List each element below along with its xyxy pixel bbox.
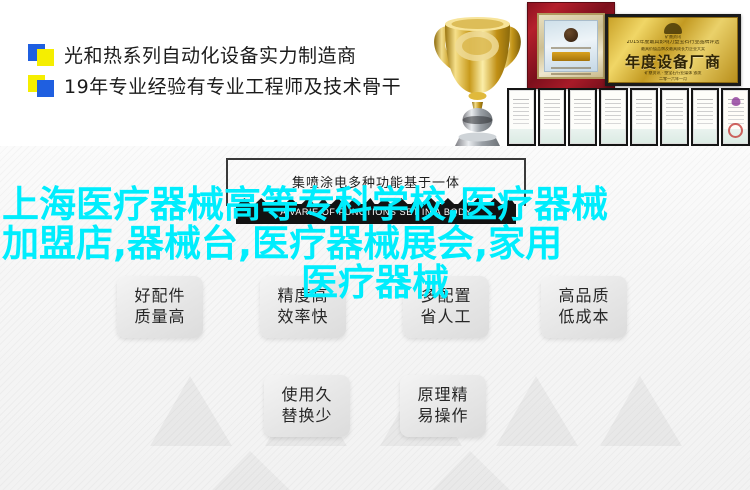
feature-pill-1-text: 好配件 质量高 — [117, 285, 203, 327]
feature-pill-2-text: 精度高 效率快 — [260, 285, 346, 327]
gold-award-plaque: 矿鼎资讯 2015年度最具影响力塑宝石行业品牌评选 最具价值品牌及最具成长力企业… — [605, 14, 741, 86]
plaque-logo-icon — [664, 23, 682, 34]
feature-pill-5-text: 使用久 替换少 — [264, 384, 350, 426]
certificate-strip — [507, 88, 750, 146]
feature-pill-4-line2: 低成本 — [541, 306, 627, 327]
feature-pill-1: 好配件 质量高 — [117, 276, 203, 338]
headline-row-1: 光和热系列自动化设备实力制造商 — [28, 40, 401, 69]
feature-pill-3: 多配置 省人工 — [403, 276, 489, 338]
feature-pill-4-line1: 高品质 — [541, 285, 627, 306]
feature-pill-1-line2: 质量高 — [117, 306, 203, 327]
feature-pill-2-line2: 效率快 — [260, 306, 346, 327]
headline-row-2: 19年专业经验有专业工程师及技术骨干 — [28, 71, 401, 100]
square-front-icon-2 — [37, 80, 54, 97]
feature-pill-1-line1: 好配件 — [117, 285, 203, 306]
feature-pill-2-line1: 精度高 — [260, 285, 346, 306]
headline-text-2: 19年专业经验有专业工程师及技术骨干 — [64, 72, 401, 99]
gold-plaque-line1: 2015年度最具影响力塑宝石行业品牌评选 — [615, 40, 731, 46]
certificate-frame — [599, 88, 628, 146]
red-plaque-face — [544, 20, 598, 72]
feature-pill-6: 原理精 易操作 — [400, 375, 486, 437]
feature-pill-3-line1: 多配置 — [403, 285, 489, 306]
plaque-seal-icon — [564, 28, 578, 42]
gold-plaque-footer2: 二零一六年一月 — [615, 77, 731, 82]
certificate-frame — [660, 88, 689, 146]
feature-pill-6-line2: 易操作 — [400, 405, 486, 426]
certificate-frame — [568, 88, 597, 146]
square-pair-icon-1 — [28, 44, 58, 66]
feature-pill-6-text: 原理精 易操作 — [400, 384, 486, 426]
feature-pill-4: 高品质 低成本 — [541, 276, 627, 338]
certificate-emblem-icon — [731, 97, 740, 106]
machine-illustration: 集喷涂电多种功能基于一体 A VARIE OF FUNCTIONS SET IN… — [226, 158, 526, 230]
certificate-frame-featured — [721, 88, 750, 146]
feature-pill-3-text: 多配置 省人工 — [403, 285, 489, 327]
feature-pill-6-line1: 原理精 — [400, 384, 486, 405]
feature-pill-5-line1: 使用久 — [264, 384, 350, 405]
feature-pill-4-text: 高品质 低成本 — [541, 285, 627, 327]
certificate-stamp-icon — [728, 123, 743, 138]
header-band: 光和热系列自动化设备实力制造商 19年专业经验有专业工程师及技术骨干 — [0, 0, 750, 146]
headline-block: 光和热系列自动化设备实力制造商 19年专业经验有专业工程师及技术骨干 — [28, 40, 401, 102]
certificate-frame — [691, 88, 720, 146]
feature-pill-2: 精度高 效率快 — [260, 276, 346, 338]
gold-plaque-face: 矿鼎资讯 2015年度最具影响力塑宝石行业品牌评选 最具价值品牌及最具成长力企业… — [608, 17, 738, 83]
certificate-frame — [630, 88, 659, 146]
gold-plaque-brand: 矿鼎资讯 — [615, 35, 731, 40]
square-front-icon-1 — [37, 49, 54, 66]
gold-plaque-footer1: 矿鼎资讯 · 塑宝石行业媒体 颁发 — [615, 71, 731, 76]
machine-subtitle: A VARIE OF FUNCTIONS SET IN A BODY — [226, 207, 526, 217]
banner-page: 光和热系列自动化设备实力制造商 19年专业经验有专业工程师及技术骨干 — [0, 0, 750, 490]
product-photo-area: 集喷涂电多种功能基于一体 A VARIE OF FUNCTIONS SET IN… — [0, 146, 750, 490]
certificate-frame — [538, 88, 567, 146]
red-plaque-inner-border — [537, 13, 605, 79]
feature-pill-3-line2: 省人工 — [403, 306, 489, 327]
machine-title: 集喷涂电多种功能基于一体 — [226, 172, 526, 191]
red-honor-plaque — [527, 2, 615, 89]
feature-pill-5-line2: 替换少 — [264, 405, 350, 426]
certificate-frame — [507, 88, 536, 146]
square-pair-icon-2 — [28, 75, 58, 97]
gold-plaque-title: 年度设备厂商 — [609, 51, 737, 72]
feature-pill-5: 使用久 替换少 — [264, 375, 350, 437]
headline-text-1: 光和热系列自动化设备实力制造商 — [64, 41, 357, 68]
